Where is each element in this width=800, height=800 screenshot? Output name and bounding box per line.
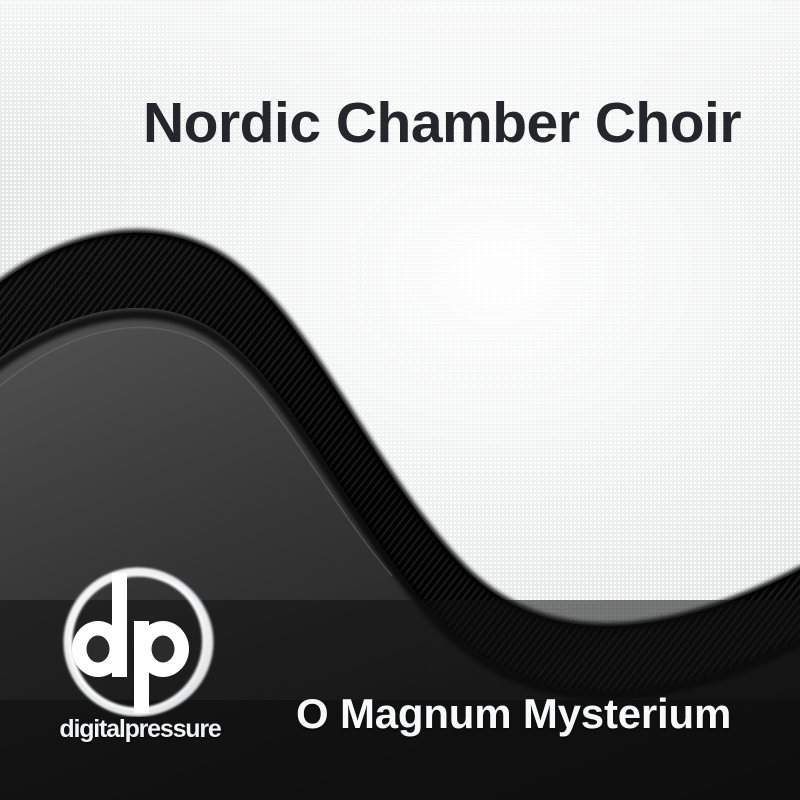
label-name: digitalpressure <box>50 715 230 744</box>
artist-title: Nordic Chamber Choir <box>143 94 741 154</box>
album-cover: Nordic Chamber Choir O Magnum Mysterium <box>0 0 800 800</box>
digitalpressure-logo: digitalpressure <box>50 565 230 750</box>
circle-ring-icon <box>50 565 230 717</box>
album-title: O Magnum Mysterium <box>296 692 731 736</box>
